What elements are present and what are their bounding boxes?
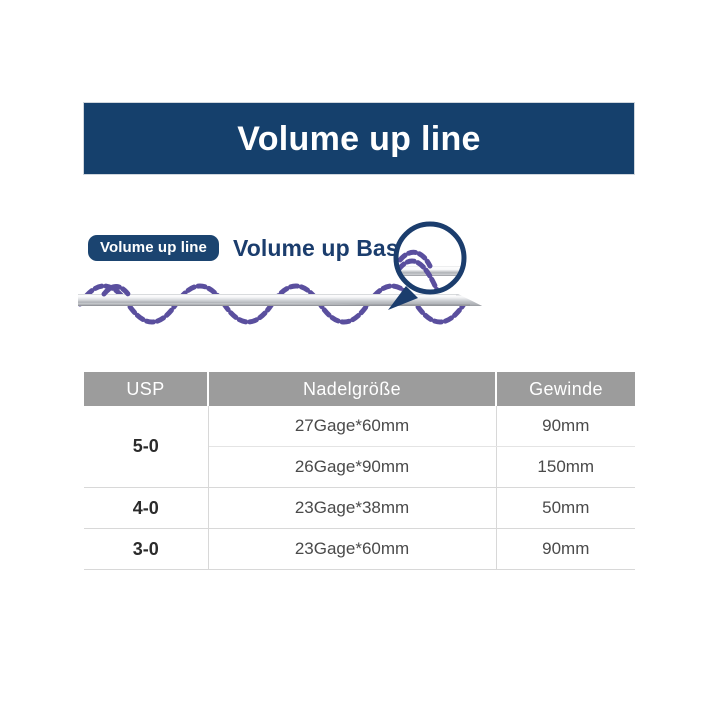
cell-thread: 90mm (496, 406, 635, 447)
cannula-tube (78, 294, 482, 306)
product-info-page: Volume up line Volume up line Volume up … (0, 0, 720, 720)
cell-thread: 90mm (496, 529, 635, 570)
specification-table: USP Nadelgröße Gewinde 5-0 27Gage*60mm 9… (84, 372, 635, 570)
product-illustration (78, 214, 508, 339)
page-title: Volume up line (237, 122, 480, 156)
cell-thread: 50mm (496, 488, 635, 529)
cell-needle: 23Gage*60mm (208, 529, 496, 570)
cell-needle: 26Gage*90mm (208, 447, 496, 488)
table-row: 4-0 23Gage*38mm 50mm (84, 488, 635, 529)
table-row: 3-0 23Gage*60mm 90mm (84, 529, 635, 570)
cell-usp: 4-0 (84, 488, 208, 529)
title-banner: Volume up line (83, 102, 635, 175)
cell-needle: 23Gage*38mm (208, 488, 496, 529)
table-header: USP Nadelgröße Gewinde (84, 372, 635, 406)
cell-thread: 150mm (496, 447, 635, 488)
cell-usp: 5-0 (84, 406, 208, 488)
cell-usp: 3-0 (84, 529, 208, 570)
table-header-row: USP Nadelgröße Gewinde (84, 372, 635, 406)
column-header-thread: Gewinde (496, 372, 635, 406)
column-header-needle-size: Nadelgröße (208, 372, 496, 406)
table-row: 5-0 27Gage*60mm 90mm (84, 406, 635, 447)
table-body: 5-0 27Gage*60mm 90mm 26Gage*90mm 150mm 4… (84, 406, 635, 570)
column-header-usp: USP (84, 372, 208, 406)
cell-needle: 27Gage*60mm (208, 406, 496, 447)
